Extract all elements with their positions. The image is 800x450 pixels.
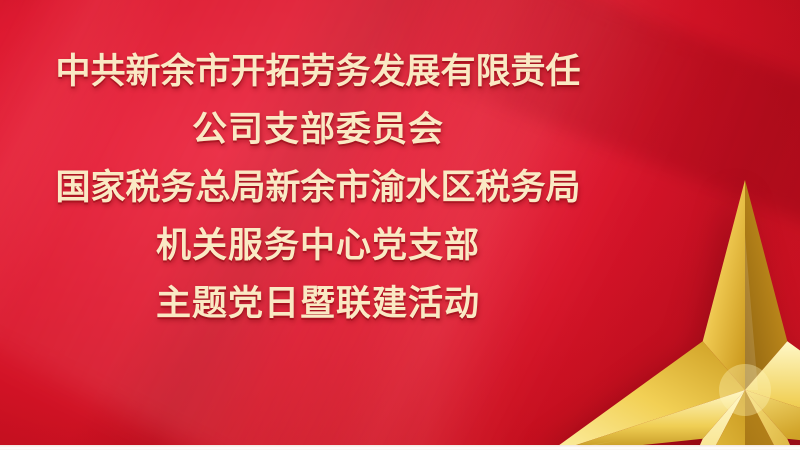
- title-line-1: 中共新余市开拓劳务发展有限责任: [0, 43, 636, 101]
- title-line-4: 机关服务中心党支部: [0, 217, 636, 275]
- title-line-5: 主题党日暨联建活动: [0, 275, 636, 333]
- title-line-2: 公司支部委员会: [0, 101, 636, 159]
- party-event-banner: 中共新余市开拓劳务发展有限责任 公司支部委员会 国家税务总局新余市渝水区税务局 …: [0, 0, 800, 450]
- bottom-edge-strip: [0, 445, 800, 450]
- poster-title-block: 中共新余市开拓劳务发展有限责任 公司支部委员会 国家税务总局新余市渝水区税务局 …: [0, 43, 636, 333]
- title-line-3: 国家税务总局新余市渝水区税务局: [0, 159, 636, 217]
